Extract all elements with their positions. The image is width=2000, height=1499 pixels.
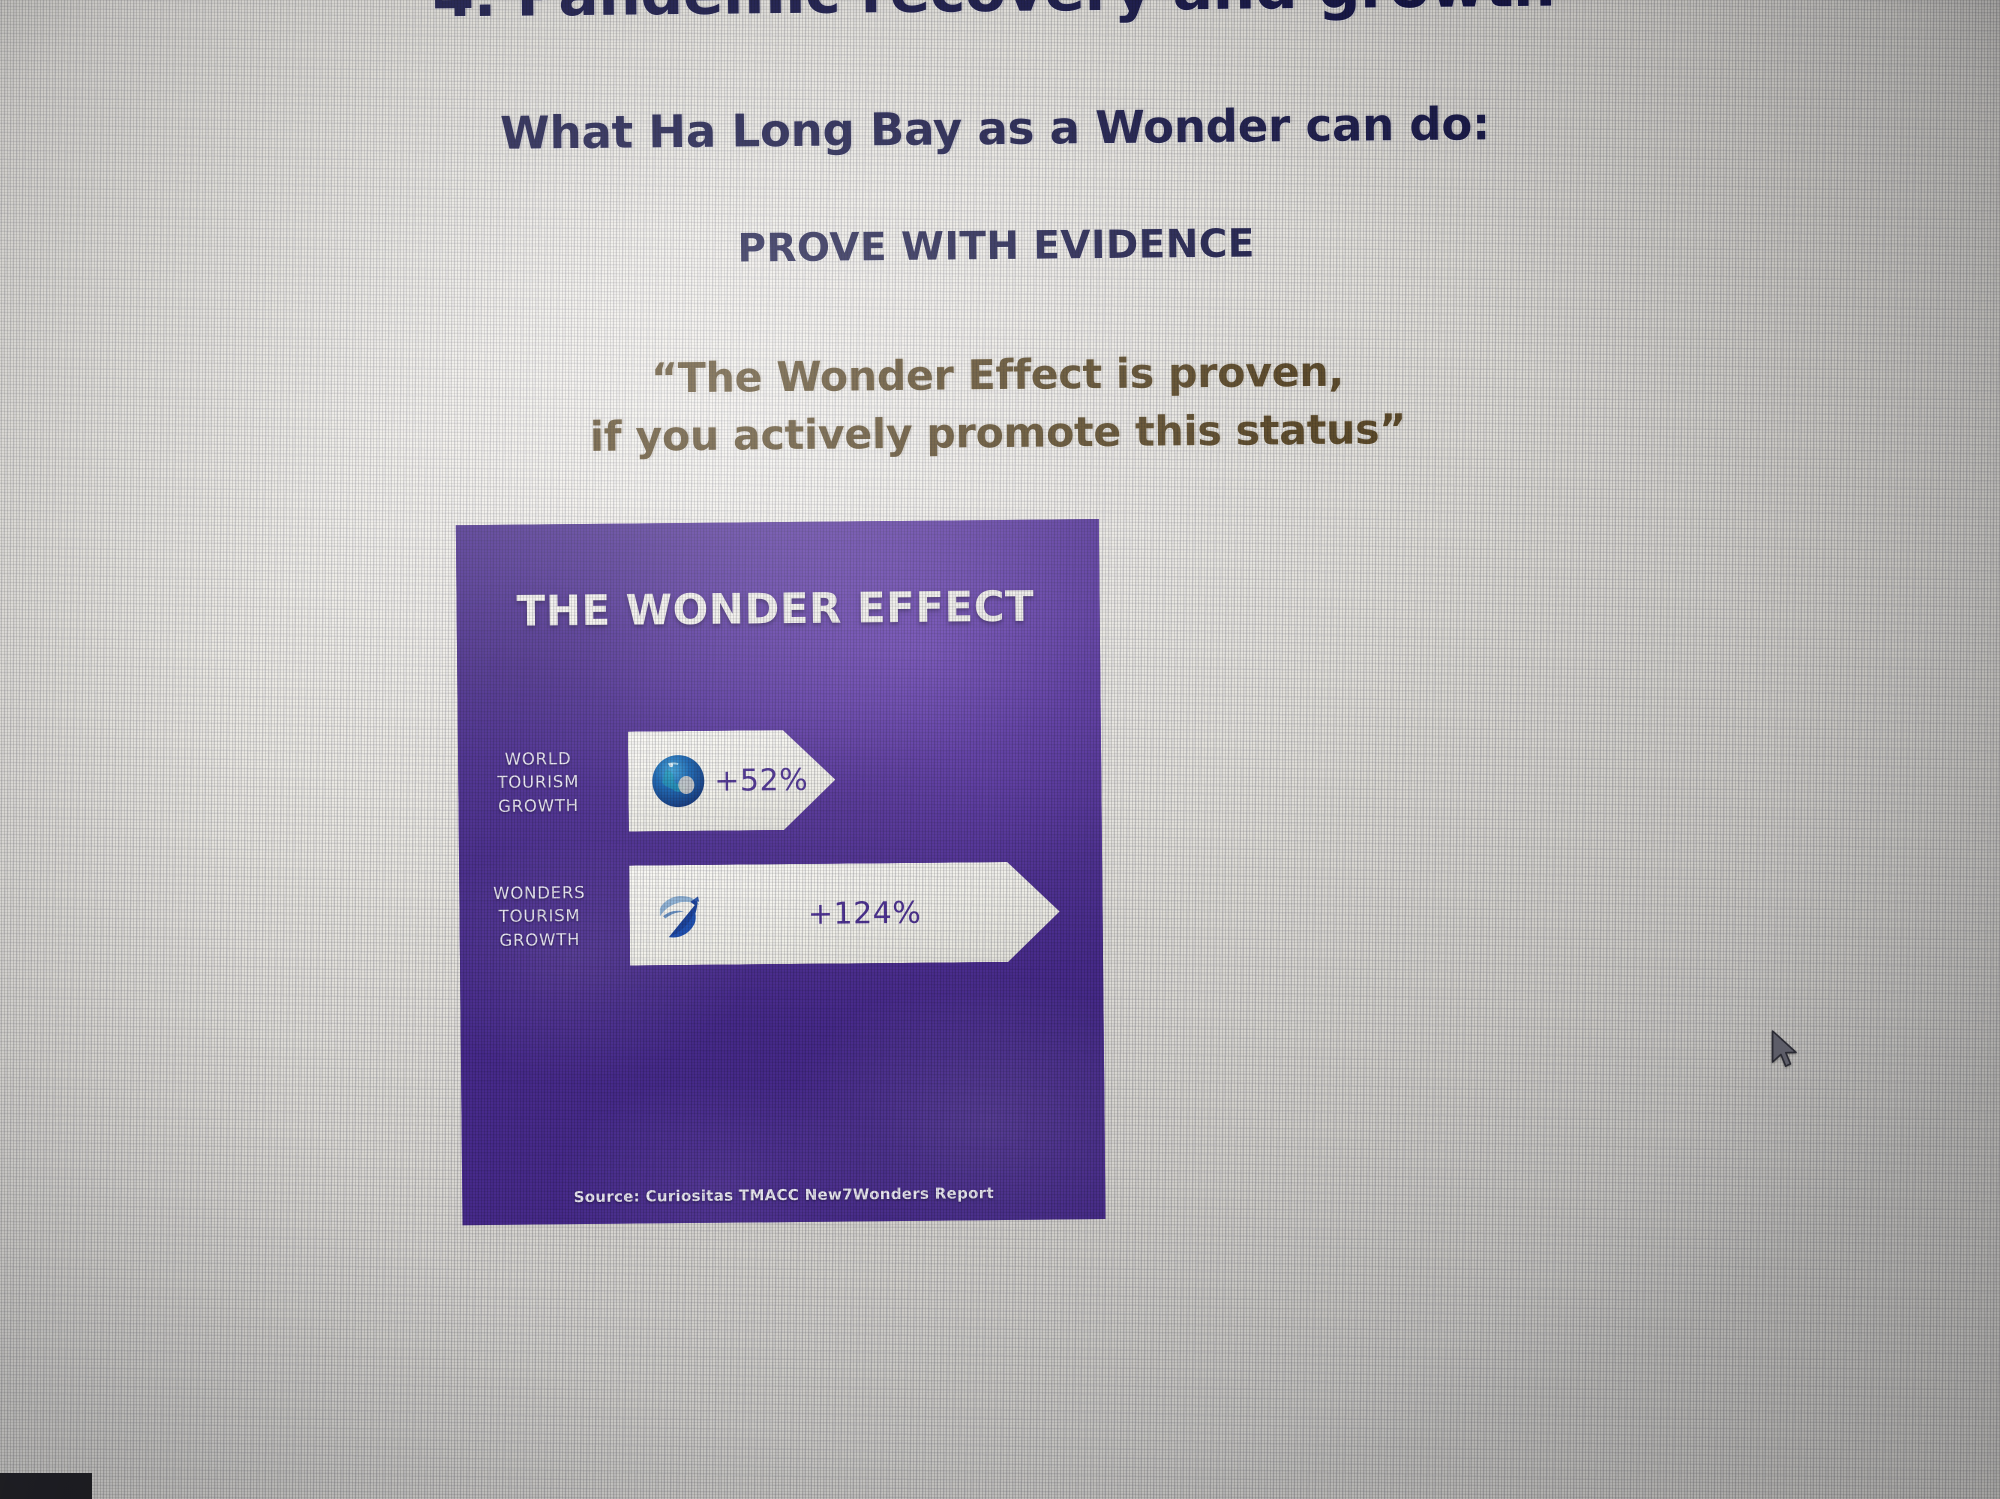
quote-line-1: “The Wonder Effect is proven,	[0, 341, 2000, 408]
metric-label-line-1: WORLD	[458, 747, 618, 772]
new7wonders-logo-icon	[643, 879, 716, 952]
metric-label-line-1: WONDERS	[459, 881, 619, 906]
metric-row-wonders-tourism: WONDERS TOURISM GROWTH +124%	[459, 861, 1103, 967]
metric-label-line-2: TOURISM	[459, 904, 619, 929]
globe-icon	[642, 745, 715, 818]
metric-row-world-tourism: WORLD TOURISM GROWTH	[458, 727, 1102, 833]
metric-label-world-tourism: WORLD TOURISM GROWTH	[458, 746, 629, 818]
slide-subtitle: What Ha Long Bay as a Wonder can do:	[0, 92, 2000, 164]
infographic-source-note: Source: Curiositas TMACC New7Wonders Rep…	[462, 1183, 1105, 1207]
metric-bar-world-tourism: +52%	[628, 730, 836, 832]
metric-label-line-2: TOURISM	[458, 770, 618, 795]
monitor-bezel	[0, 1473, 92, 1499]
metric-value-wonders-tourism: +124%	[715, 894, 1059, 932]
monitor-photo: 4. Pandemic recovery and growth What Ha …	[0, 0, 2000, 1499]
metric-bar-wonders-tourism: +124%	[629, 861, 1060, 965]
quote-line-2: if you actively promote this status”	[0, 399, 2000, 466]
evidence-heading: PROVE WITH EVIDENCE	[0, 214, 2000, 278]
wonder-effect-infographic: THE WONDER EFFECT WORLD TOURISM GROWTH	[456, 519, 1106, 1225]
presentation-slide: 4. Pandemic recovery and growth What Ha …	[0, 0, 2000, 1499]
metric-value-world-tourism: +52%	[714, 762, 838, 798]
metric-label-wonders-tourism: WONDERS TOURISM GROWTH	[459, 880, 630, 952]
infographic-title: THE WONDER EFFECT	[516, 582, 1034, 636]
metric-label-line-3: GROWTH	[458, 793, 618, 818]
slide-title: 4. Pandemic recovery and growth	[0, 0, 2000, 36]
metric-label-line-3: GROWTH	[460, 927, 620, 952]
mouse-pointer-icon	[1768, 1029, 1802, 1073]
